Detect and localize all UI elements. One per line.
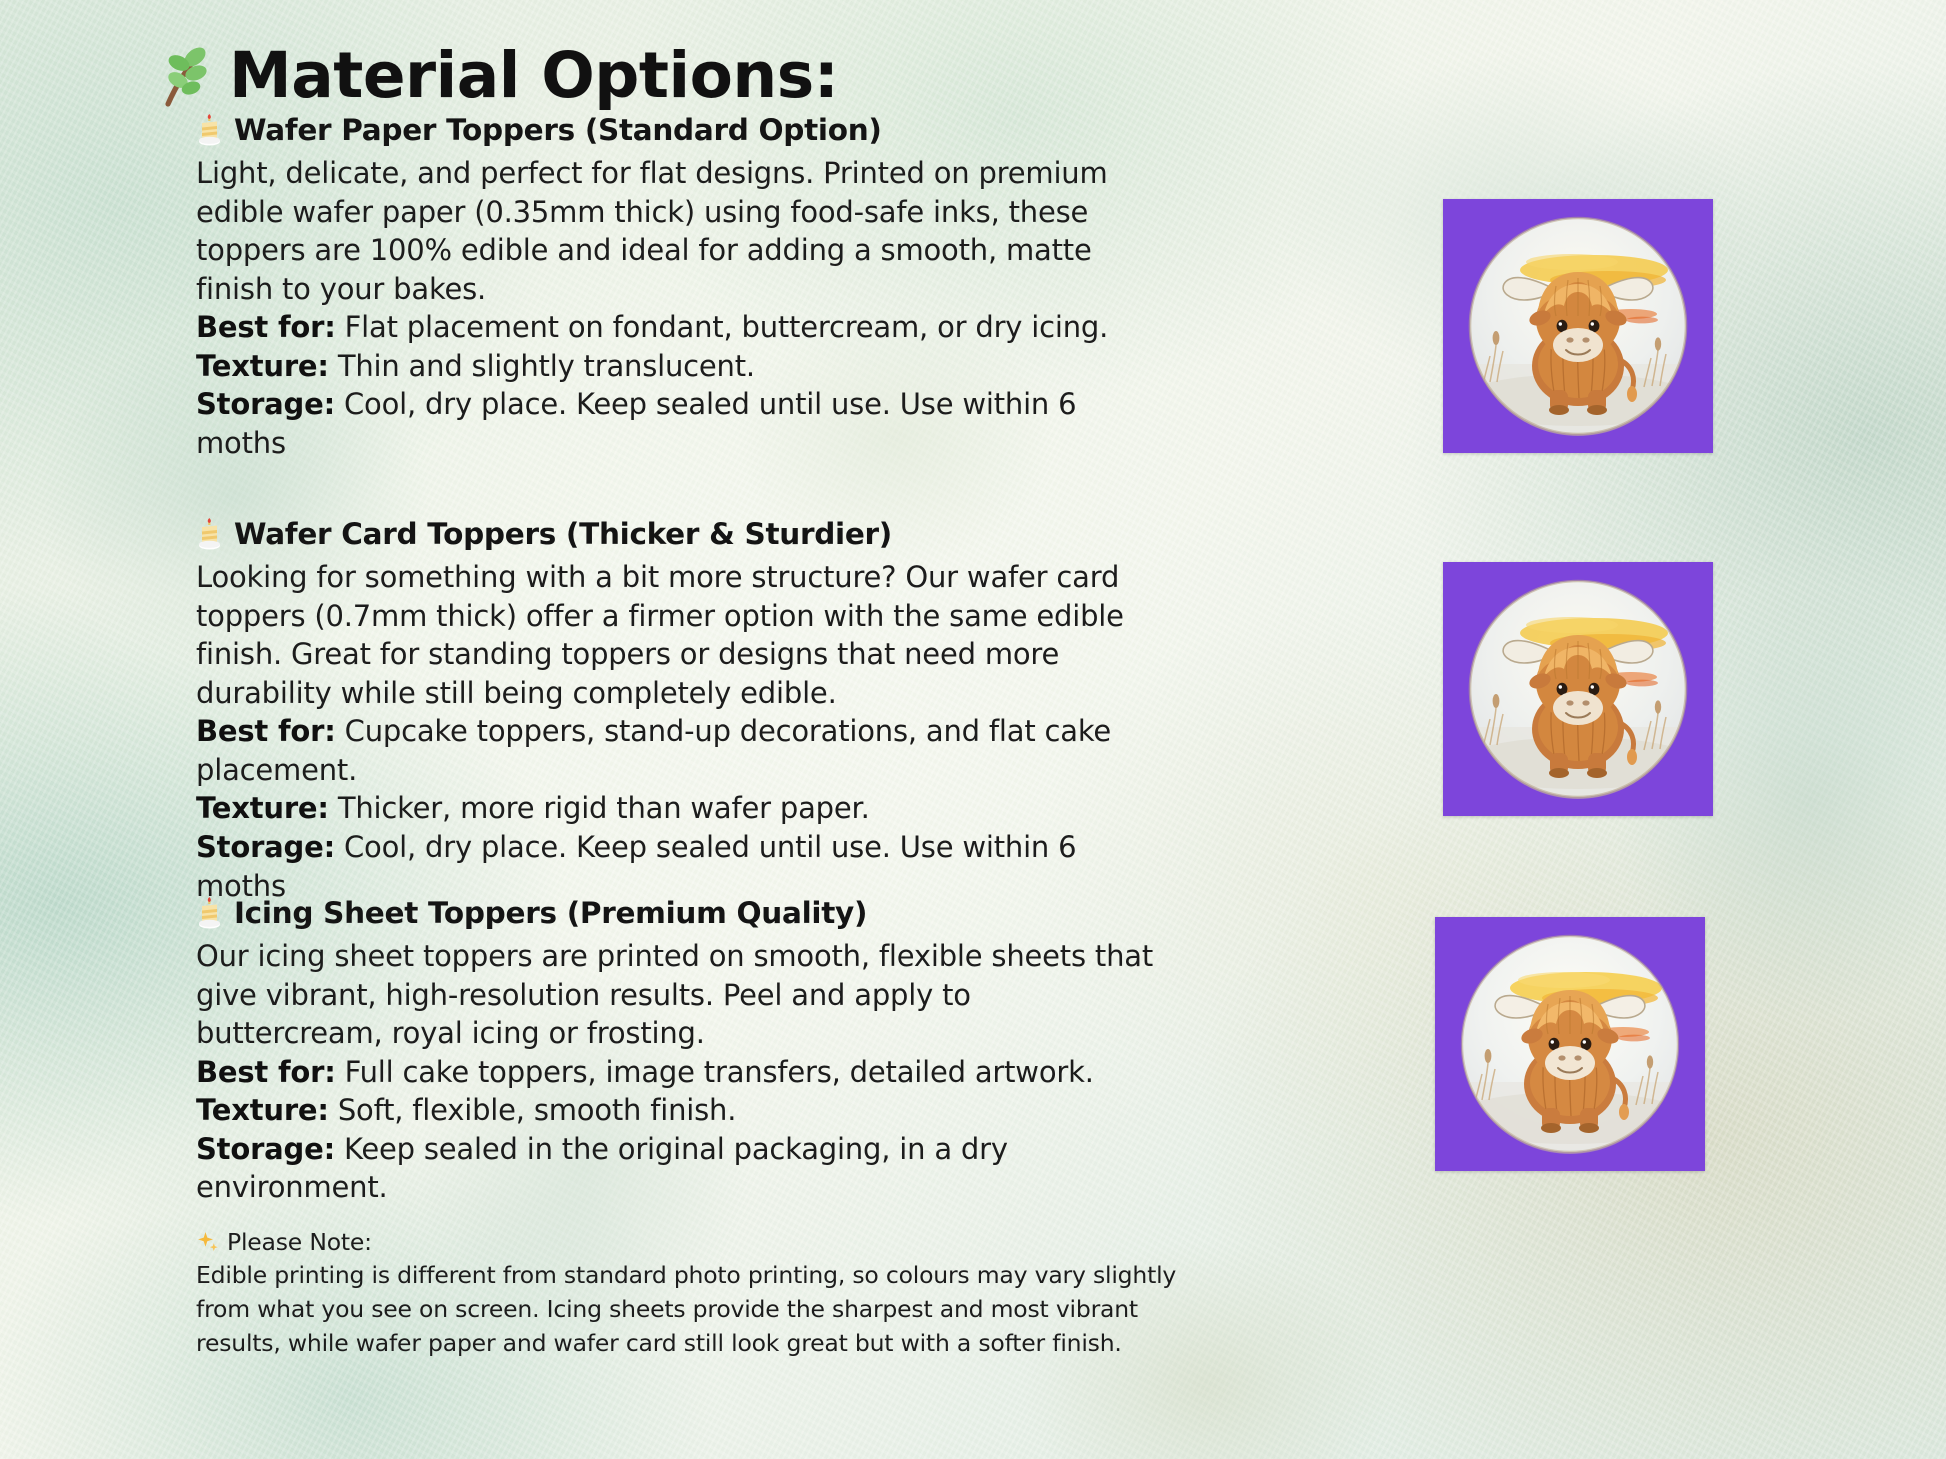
section-paragraph: Our icing sheet toppers are printed on s… [196,937,1156,1053]
detail-best-for: Best for: Flat placement on fondant, but… [196,308,1156,347]
section-title: Wafer Paper Toppers (Standard Option) [234,113,882,147]
detail-label: Texture: [196,791,329,825]
section-title: Icing Sheet Toppers (Premium Quality) [234,896,867,930]
detail-label: Texture: [196,349,329,383]
section-wafer-card: Wafer Card Toppers (Thicker & Sturdier) … [196,517,1156,905]
detail-value: Thin and slightly translucent. [338,349,755,383]
section-heading-row: Wafer Card Toppers (Thicker & Sturdier) [196,517,1156,551]
section-paragraph: Looking for something with a bit more st… [196,558,1156,712]
sparkles-icon [196,1230,220,1254]
section-title: Wafer Card Toppers (Thicker & Sturdier) [234,517,892,551]
cake-slice-icon [196,897,225,930]
detail-label: Best for: [196,310,336,344]
please-note-block: Please Note: Edible printing is differen… [196,1228,1196,1360]
product-photo-wafer-card [1443,562,1713,816]
detail-best-for: Best for: Full cake toppers, image trans… [196,1053,1156,1092]
highland-cow-topper-image [1458,932,1682,1156]
detail-storage: Storage: Cool, dry place. Keep sealed un… [196,385,1156,462]
detail-label: Best for: [196,1055,336,1089]
detail-value: Flat placement on fondant, buttercream, … [345,310,1108,344]
detail-label: Best for: [196,714,336,748]
detail-storage: Storage: Cool, dry place. Keep sealed un… [196,828,1156,905]
section-wafer-paper: Wafer Paper Toppers (Standard Option) Li… [196,113,1156,463]
highland-cow-topper-image [1466,577,1690,801]
page-content: Material Options: Wafer Paper Toppers (S… [0,0,1946,1459]
highland-cow-topper-image [1466,214,1690,438]
herb-icon [155,42,215,108]
note-heading-row: Please Note: [196,1228,1196,1256]
note-body: Edible printing is different from standa… [196,1258,1196,1360]
detail-label: Storage: [196,387,335,421]
section-heading-row: Icing Sheet Toppers (Premium Quality) [196,896,1156,930]
detail-best-for: Best for: Cupcake toppers, stand-up deco… [196,712,1156,789]
product-photo-wafer-paper [1443,199,1713,453]
detail-label: Texture: [196,1093,329,1127]
section-heading-row: Wafer Paper Toppers (Standard Option) [196,113,1156,147]
detail-texture: Texture: Thin and slightly translucent. [196,347,1156,386]
section-paragraph: Light, delicate, and perfect for flat de… [196,154,1156,308]
cake-slice-icon [196,518,225,551]
section-icing-sheet: Icing Sheet Toppers (Premium Quality) Ou… [196,896,1156,1207]
detail-texture: Texture: Soft, flexible, smooth finish. [196,1091,1156,1130]
detail-storage: Storage: Keep sealed in the original pac… [196,1130,1156,1207]
detail-label: Storage: [196,830,335,864]
detail-value: Soft, flexible, smooth finish. [338,1093,736,1127]
product-photo-icing-sheet [1435,917,1705,1171]
detail-value: Full cake toppers, image transfers, deta… [345,1055,1094,1089]
page-title: Material Options: [229,44,838,107]
detail-texture: Texture: Thicker, more rigid than wafer … [196,789,1156,828]
detail-label: Storage: [196,1132,335,1166]
detail-value: Thicker, more rigid than wafer paper. [338,791,870,825]
cake-slice-icon [196,114,225,147]
note-heading: Please Note: [227,1228,372,1256]
page-title-row: Material Options: [155,42,838,108]
